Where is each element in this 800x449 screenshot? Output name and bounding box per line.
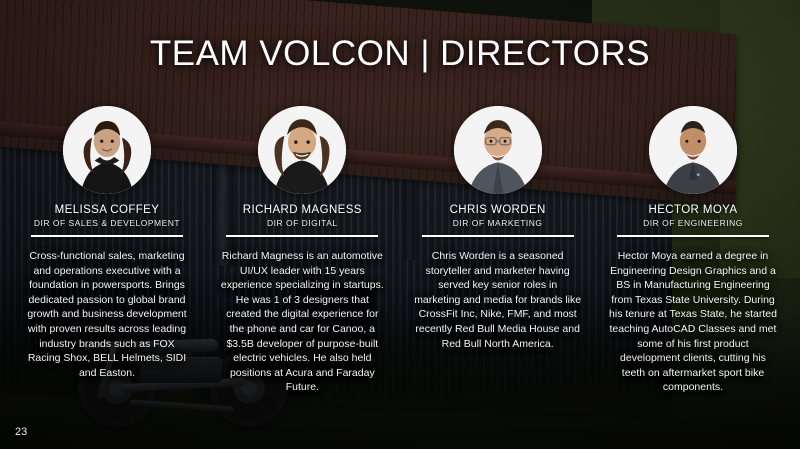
director-bio: Hector Moya earned a degree in Engineeri…	[609, 249, 777, 395]
director-card-melissa-coffey: MELISSA COFFEY DIR OF SALES & DEVELOPMEN…	[14, 106, 200, 380]
divider-rule	[617, 235, 769, 237]
page-number: 23	[15, 426, 27, 438]
director-role: DIR OF SALES & DEVELOPMENT	[34, 218, 180, 228]
avatar	[649, 106, 737, 194]
divider-rule	[31, 235, 183, 237]
director-role: DIR OF MARKETING	[453, 218, 543, 228]
director-name: MELISSA COFFEY	[55, 204, 160, 216]
slide-content: TEAM VOLCON | DIRECTORS	[0, 0, 800, 449]
slide-title: TEAM VOLCON | DIRECTORS	[0, 34, 800, 74]
directors-row: MELISSA COFFEY DIR OF SALES & DEVELOPMEN…	[14, 106, 786, 395]
director-card-chris-worden: CHRIS WORDEN DIR OF MARKETING Chris Word…	[405, 106, 591, 351]
director-role: DIR OF ENGINEERING	[643, 218, 743, 228]
director-role: DIR OF DIGITAL	[267, 218, 338, 228]
director-name: HECTOR MOYA	[649, 204, 738, 216]
director-card-hector-moya: HECTOR MOYA DIR OF ENGINEERING Hector Mo…	[600, 106, 786, 395]
portrait-photo-richard-icon	[258, 106, 346, 194]
director-bio: Chris Worden is a seasoned storyteller a…	[414, 249, 582, 351]
presentation-slide: VOLCON TEAM VOLCON | DIRECTORS	[0, 0, 800, 449]
avatar	[63, 106, 151, 194]
divider-rule	[422, 235, 574, 237]
director-card-richard-magness: RICHARD MAGNESS DIR OF DIGITAL Richard M…	[209, 106, 395, 395]
avatar	[454, 106, 542, 194]
portrait-photo-melissa-icon	[63, 106, 151, 194]
director-name: RICHARD MAGNESS	[243, 204, 362, 216]
director-name: CHRIS WORDEN	[450, 204, 546, 216]
avatar	[258, 106, 346, 194]
portrait-photo-chris-icon	[454, 106, 542, 194]
divider-rule	[226, 235, 378, 237]
director-bio: Richard Magness is an automotive UI/UX l…	[218, 249, 386, 395]
portrait-photo-hector-icon	[649, 106, 737, 194]
director-bio: Cross-functional sales, marketing and op…	[23, 249, 191, 380]
